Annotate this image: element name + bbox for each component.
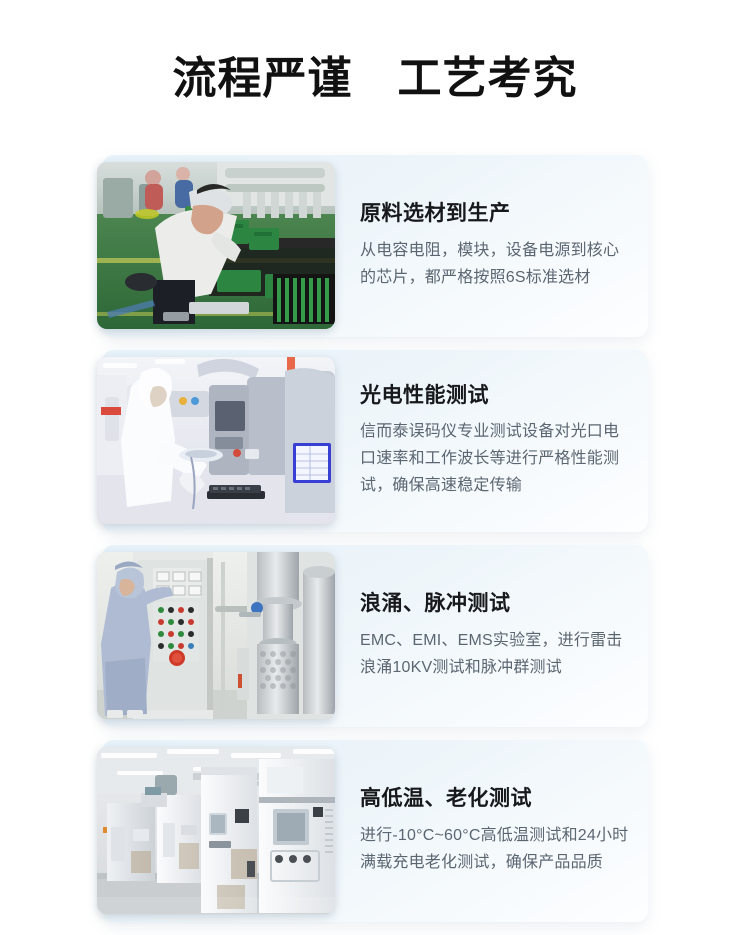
process-card-2-description: 信而泰误码仪专业测试设备对光口电口速率和工作波长等进行严格性能测试，确保高速稳定…: [360, 418, 634, 499]
process-card-1[interactable]: 原料选材到生产 从电容电阻，模块，设备电源到核心的芯片，都严格按照6S标准选材: [102, 155, 648, 337]
cleanroom-optical-test-photo: [97, 357, 335, 524]
process-card-3[interactable]: 浪涌、脉冲测试 EMC、EMI、EMS实验室，进行雷击浪涌10KV测试和脉冲群测…: [102, 545, 648, 727]
process-card-4-body: 高低温、老化测试 进行-10°C~60°C高低温测试和24小时满载充电老化测试，…: [360, 740, 634, 922]
process-card-1-heading: 原料选材到生产: [360, 201, 634, 226]
page-title: 流程严谨 工艺考究: [0, 48, 750, 110]
process-card-3-heading: 浪涌、脉冲测试: [360, 591, 634, 616]
process-card-2[interactable]: 光电性能测试 信而泰误码仪专业测试设备对光口电口速率和工作波长等进行严格性能测试…: [102, 350, 648, 532]
process-card-4-description: 进行-10°C~60°C高低温测试和24小时满载充电老化测试，确保产品品质: [360, 822, 634, 876]
pcb-assembly-worker-photo: [97, 162, 335, 329]
process-card-list: 原料选材到生产 从电容电阻，模块，设备电源到核心的芯片，都严格按照6S标准选材: [0, 155, 750, 935]
process-card-4-heading: 高低温、老化测试: [360, 786, 634, 811]
process-card-2-heading: 光电性能测试: [360, 383, 634, 408]
process-card-3-body: 浪涌、脉冲测试 EMC、EMI、EMS实验室，进行雷击浪涌10KV测试和脉冲群测…: [360, 545, 634, 727]
surge-pulse-lab-photo: [97, 552, 335, 719]
process-card-1-body: 原料选材到生产 从电容电阻，模块，设备电源到核心的芯片，都严格按照6S标准选材: [360, 155, 634, 337]
process-card-1-description: 从电容电阻，模块，设备电源到核心的芯片，都严格按照6S标准选材: [360, 237, 634, 291]
process-card-3-description: EMC、EMI、EMS实验室，进行雷击浪涌10KV测试和脉冲群测试: [360, 627, 634, 681]
process-card-4[interactable]: 高低温、老化测试 进行-10°C~60°C高低温测试和24小时满载充电老化测试，…: [102, 740, 648, 922]
process-card-2-body: 光电性能测试 信而泰误码仪专业测试设备对光口电口速率和工作波长等进行严格性能测试…: [360, 350, 634, 532]
temperature-aging-chambers-photo: [97, 747, 335, 914]
product-process-page: 流程严谨 工艺考究: [0, 0, 750, 900]
